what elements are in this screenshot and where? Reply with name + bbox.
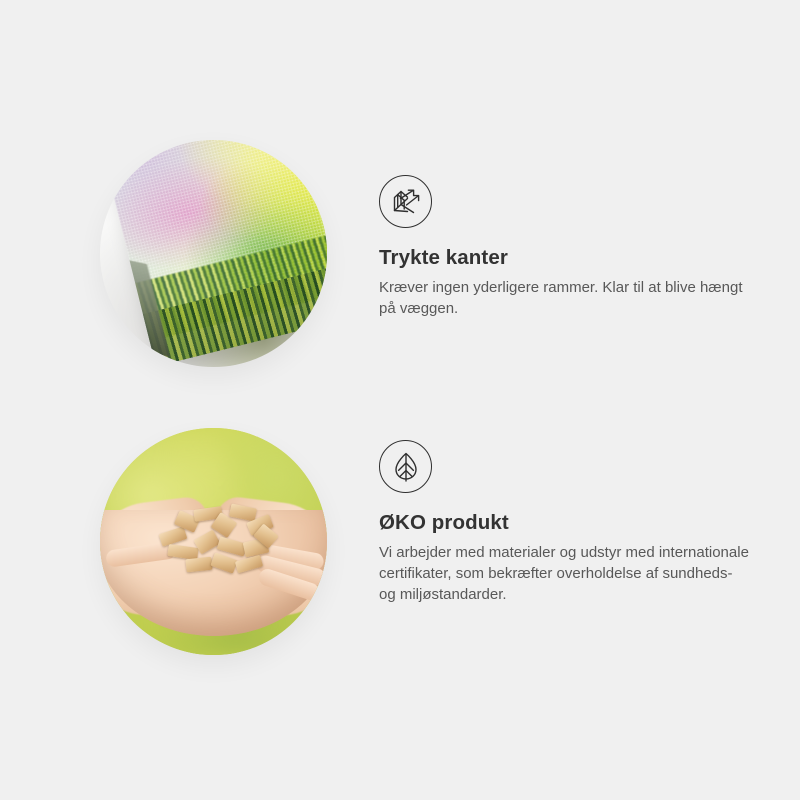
feature-text-block: Trykte kanter Kræver ingen yderligere ra… — [379, 140, 759, 319]
hands-holding-wood-chips-photo — [100, 428, 327, 655]
feature-list: Trykte kanter Kræver ingen yderligere ra… — [0, 0, 800, 800]
feature-title: Trykte kanter — [379, 246, 759, 270]
wood-chip — [185, 557, 212, 573]
photo-background — [100, 428, 327, 655]
leaf-icon — [379, 440, 432, 493]
wood-chips-pile — [156, 506, 280, 578]
wood-chip — [210, 552, 237, 573]
wood-chip — [235, 555, 263, 574]
feature-description: Vi arbejder med materialer og udstyr med… — [379, 542, 751, 605]
feature-row: ØKO produkt Vi arbejder med materialer o… — [0, 428, 800, 678]
photo-background — [100, 140, 327, 367]
wood-chip — [229, 503, 257, 521]
feature-description: Kræver ingen yderligere rammer. Klar til… — [379, 277, 751, 319]
feature-title: ØKO produkt — [379, 511, 759, 535]
feature-row: Trykte kanter Kræver ingen yderligere ra… — [0, 140, 800, 390]
feature-text-block: ØKO produkt Vi arbejder med materialer o… — [379, 428, 759, 605]
printed-edges-icon — [379, 175, 432, 228]
canvas-print-block — [100, 140, 327, 367]
leaf-glyph — [389, 450, 423, 484]
canvas-print-corner-photo — [100, 140, 327, 367]
printed-edges-glyph — [389, 185, 423, 219]
